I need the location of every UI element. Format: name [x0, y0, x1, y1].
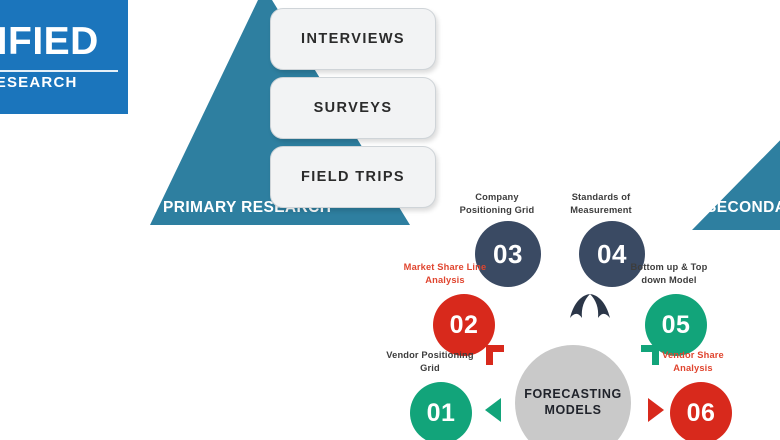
method-box-interviews[interactable]: INTERVIEWS: [270, 8, 436, 70]
logo-divider: [0, 70, 118, 72]
secondary-research-label: SECONDA: [706, 199, 780, 217]
method-box-surveys[interactable]: SURVEYS: [270, 77, 436, 139]
node-circle-06[interactable]: 06: [670, 382, 732, 440]
chevron-left-icon: [482, 396, 504, 424]
node-caption-06: Vendor Share Analysis: [608, 349, 778, 376]
method-box-label: FIELD TRIPS: [301, 169, 405, 185]
node-number-05: 05: [662, 311, 691, 340]
node-caption-02: Market Share Line Analysis: [360, 261, 530, 288]
method-box-label: SURVEYS: [314, 100, 393, 116]
node-number-02: 02: [450, 311, 479, 340]
node-circle-01[interactable]: 01: [410, 382, 472, 440]
node-caption-05: Bottom up & Top down Model: [584, 261, 754, 288]
infographic-canvas: RIFIED T RESEARCH PRIMARY RESEARCH SECON…: [0, 0, 780, 440]
brand-logo: RIFIED T RESEARCH: [0, 0, 128, 114]
logo-subtitle: T RESEARCH: [0, 74, 128, 91]
node-number-06: 06: [687, 399, 716, 428]
hub-line-2: MODELS: [544, 403, 601, 419]
node-number-01: 01: [427, 399, 456, 428]
method-box-label: INTERVIEWS: [301, 31, 405, 47]
arrow-up-right-icon: [578, 292, 612, 322]
corner-bracket-right-icon: [639, 343, 661, 367]
corner-bracket-left-icon: [484, 343, 506, 367]
hub-line-1: FORECASTING: [524, 387, 622, 403]
logo-wordmark: RIFIED: [0, 22, 128, 61]
node-caption-04: Standards of Measurement: [516, 191, 686, 218]
chevron-right-icon: [645, 396, 667, 424]
